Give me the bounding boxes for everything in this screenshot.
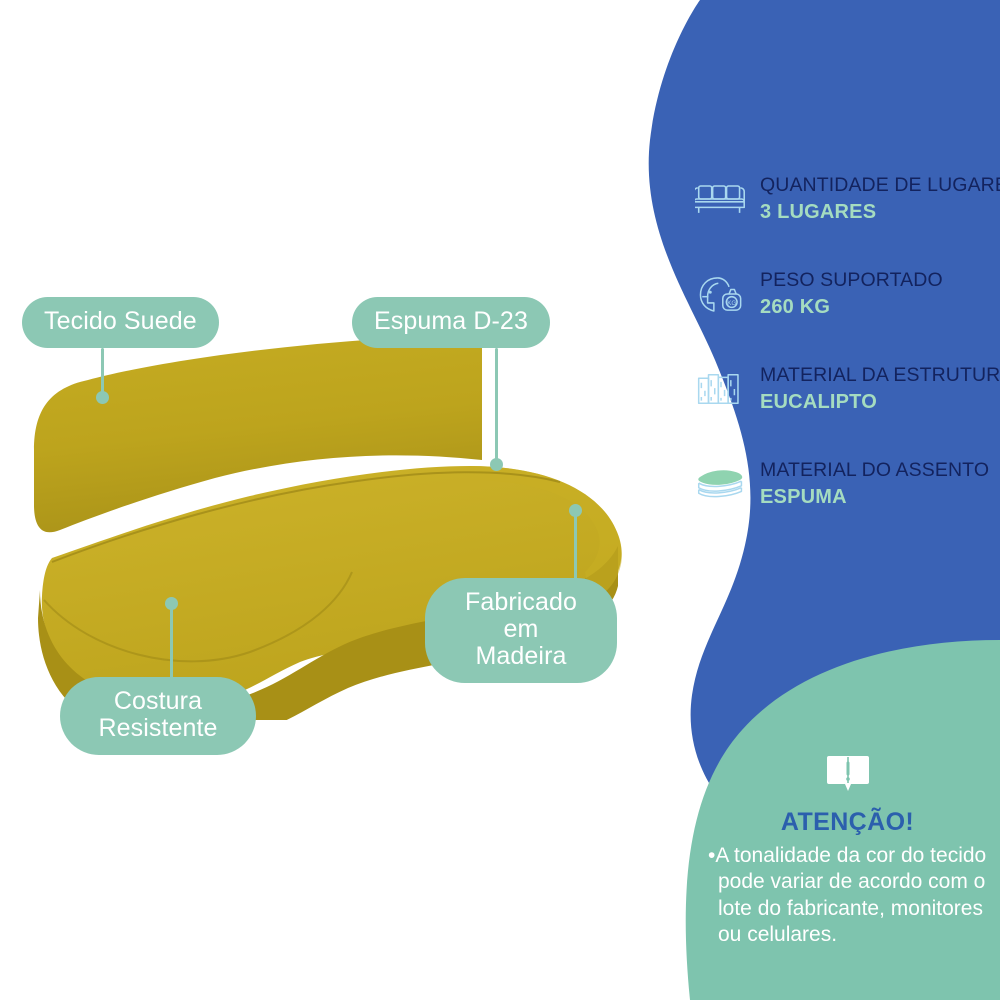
specifications-list: QUANTIDADE DE LUGARES 3 LUGARES KG	[690, 168, 1000, 548]
spec-label-weight: PESO SUPORTADO	[760, 269, 943, 291]
callout-tecido-suede: Tecido Suede	[22, 297, 219, 348]
spec-row-seat-material: MATERIAL DO ASSENTO ESPUMA	[690, 453, 1000, 515]
weight-capacity-icon: KG	[690, 266, 752, 322]
leader-line-tecido-suede	[101, 348, 104, 396]
callout-espuma-d23: Espuma D-23	[352, 297, 550, 348]
spec-value-structure: EUCALIPTO	[760, 390, 1000, 414]
spec-value-weight: 260 KG	[760, 295, 943, 319]
leader-dot-costura-resistente	[165, 597, 178, 610]
exclamation-speech-bubble-icon	[825, 752, 871, 800]
spec-label-seats: QUANTIDADE DE LUGARES	[760, 174, 1000, 196]
foam-layers-icon	[690, 456, 752, 512]
leader-line-espuma-d23	[495, 348, 498, 466]
callout-fabricado-madeira: Fabricado em Madeira	[425, 578, 617, 683]
callout-costura-resistente: Costura Resistente	[60, 677, 256, 755]
spec-text-seat-material: MATERIAL DO ASSENTO ESPUMA	[752, 459, 989, 508]
leader-dot-tecido-suede	[96, 391, 109, 404]
attention-body: •A tonalidade da cor do tecido pode vari…	[700, 843, 995, 949]
attention-title: ATENÇÃO!	[700, 808, 995, 837]
spec-text-weight: PESO SUPORTADO 260 KG	[752, 269, 943, 318]
sofa-icon	[690, 171, 752, 227]
leader-dot-fabricado-madeira	[569, 504, 582, 517]
spec-text-seats: QUANTIDADE DE LUGARES 3 LUGARES	[752, 174, 1000, 223]
spec-row-seats: QUANTIDADE DE LUGARES 3 LUGARES	[690, 168, 1000, 230]
spec-label-seat-material: MATERIAL DO ASSENTO	[760, 459, 989, 481]
infographic-canvas: Tecido Suede Espuma D-23 Fabricado em Ma…	[0, 0, 1000, 1000]
spec-text-structure: MATERIAL DA ESTRUTURA EUCALIPTO	[752, 364, 1000, 413]
spec-value-seat-material: ESPUMA	[760, 485, 989, 509]
wood-planks-icon	[690, 361, 752, 417]
spec-value-seats: 3 LUGARES	[760, 200, 1000, 224]
attention-block: ATENÇÃO! •A tonalidade da cor do tecido …	[700, 752, 995, 949]
svg-text:KG: KG	[727, 300, 736, 307]
leader-line-fabricado-madeira	[574, 512, 577, 580]
leader-line-costura-resistente	[170, 605, 173, 681]
spec-row-structure: MATERIAL DA ESTRUTURA EUCALIPTO	[690, 358, 1000, 420]
spec-row-weight: KG PESO SUPORTADO 260 KG	[690, 263, 1000, 325]
spec-label-structure: MATERIAL DA ESTRUTURA	[760, 364, 1000, 386]
leader-dot-espuma-d23	[490, 458, 503, 471]
